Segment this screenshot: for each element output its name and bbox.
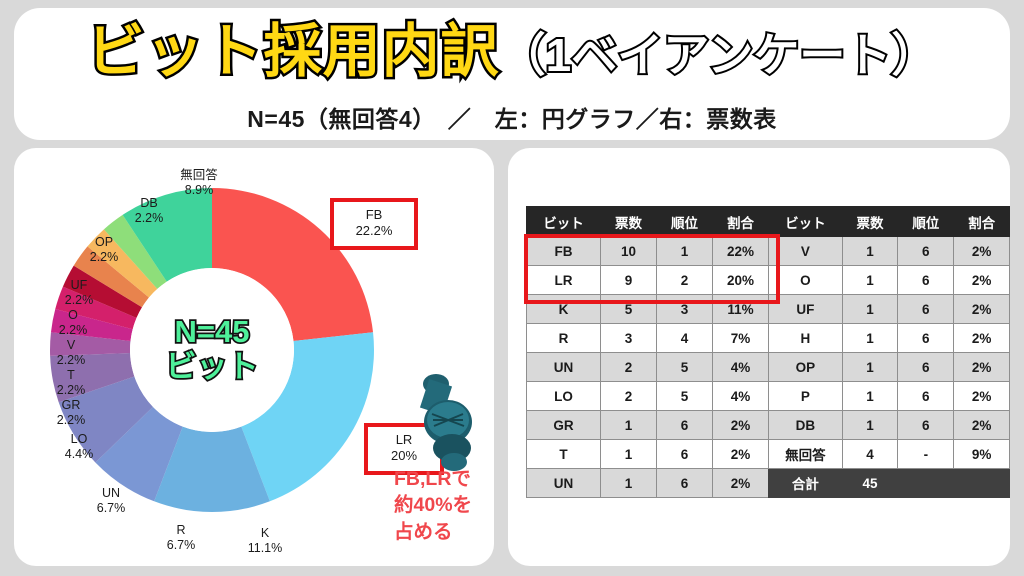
votes-table-left: ビット票数順位割合FB10122%LR9220%K5311%R347%UN254… bbox=[526, 206, 769, 498]
pie-label-lo: LO4.4% bbox=[52, 432, 106, 462]
table-row: LR9220% bbox=[527, 266, 769, 295]
table-cell: UF bbox=[769, 295, 843, 324]
table-cell: 1 bbox=[842, 324, 898, 353]
table-row: FB10122% bbox=[527, 237, 769, 266]
table-row: V162% bbox=[769, 237, 1010, 266]
table-cell: 6 bbox=[657, 469, 713, 498]
table-cell: 2% bbox=[713, 411, 769, 440]
table-cell: 2% bbox=[713, 440, 769, 469]
table-cell: 1 bbox=[842, 382, 898, 411]
table-cell: 6 bbox=[898, 266, 954, 295]
table-cell: 2% bbox=[954, 237, 1010, 266]
page-title: ビット採用内訳（1ベイアンケート） bbox=[14, 22, 1010, 83]
table-cell: 1 bbox=[601, 440, 657, 469]
pie-label-gr: GR2.2% bbox=[44, 398, 98, 428]
table-cell: LR bbox=[527, 266, 601, 295]
table-cell: 2% bbox=[954, 411, 1010, 440]
bit-photo-fb bbox=[406, 370, 488, 480]
table-cell: K bbox=[527, 295, 601, 324]
table-cell: 6 bbox=[898, 353, 954, 382]
table-cell: 4 bbox=[657, 324, 713, 353]
table-cell: UN bbox=[527, 469, 601, 498]
table-row: P162% bbox=[769, 382, 1010, 411]
table-cell: FB bbox=[527, 237, 601, 266]
table-cell: GR bbox=[527, 411, 601, 440]
table-header-row: ビット票数順位割合 bbox=[527, 207, 769, 237]
table-cell: 2% bbox=[954, 382, 1010, 411]
table-cell: 2% bbox=[954, 295, 1010, 324]
table-row: R347% bbox=[527, 324, 769, 353]
pie-label-r: R6.7% bbox=[154, 523, 208, 553]
annotation-note: FB,LRで 約40%を 占める bbox=[394, 466, 472, 545]
table-header-cell: ビット bbox=[769, 207, 843, 237]
table-header-cell: 票数 bbox=[842, 207, 898, 237]
table-row: GR162% bbox=[527, 411, 769, 440]
table-cell: 45 bbox=[842, 469, 898, 498]
table-cell: V bbox=[769, 237, 843, 266]
header-card: ビット採用内訳（1ベイアンケート） N=45（無回答4） ／ 左：円グラフ／右：… bbox=[14, 8, 1010, 140]
table-header-cell: 割合 bbox=[713, 207, 769, 237]
table-cell: T bbox=[527, 440, 601, 469]
table-cell: 1 bbox=[601, 469, 657, 498]
table-cell: 11% bbox=[713, 295, 769, 324]
table-cell bbox=[898, 469, 954, 498]
table-cell: UN bbox=[527, 353, 601, 382]
pie-label-o: O2.2% bbox=[46, 308, 100, 338]
table-cell: 1 bbox=[842, 295, 898, 324]
table-cell: 1 bbox=[657, 237, 713, 266]
table-cell: 9 bbox=[601, 266, 657, 295]
annotation-note-line2: 約40%を bbox=[394, 492, 472, 518]
pie-label-un: UN6.7% bbox=[84, 486, 138, 516]
table-row: OP162% bbox=[769, 353, 1010, 382]
table-row: 無回答4-9% bbox=[769, 440, 1010, 469]
table-cell: LO bbox=[527, 382, 601, 411]
table-cell: 22% bbox=[713, 237, 769, 266]
table-cell: O bbox=[769, 266, 843, 295]
table-cell: 無回答 bbox=[769, 440, 843, 469]
table-cell: 6 bbox=[898, 411, 954, 440]
table-cell: - bbox=[898, 440, 954, 469]
table-cell: 2% bbox=[713, 469, 769, 498]
table-cell: 5 bbox=[601, 295, 657, 324]
pie-label-k: K11.1% bbox=[236, 526, 294, 556]
table-cell: 2 bbox=[657, 266, 713, 295]
table-cell: 2% bbox=[954, 324, 1010, 353]
table-cell: 2 bbox=[601, 382, 657, 411]
votes-table-right: ビット票数順位割合V162%O162%UF162%H162%OP162%P162… bbox=[768, 206, 1010, 498]
table-total-row: 合計45 bbox=[769, 469, 1010, 498]
callout-fb: FB 22.2% bbox=[330, 198, 418, 250]
table-cell: 20% bbox=[713, 266, 769, 295]
pie-label-db: DB2.2% bbox=[122, 196, 176, 226]
table-row: DB162% bbox=[769, 411, 1010, 440]
table-row: LO254% bbox=[527, 382, 769, 411]
table-cell: 6 bbox=[898, 237, 954, 266]
table-cell: 3 bbox=[657, 295, 713, 324]
pie-label-uf: UF2.2% bbox=[52, 278, 106, 308]
table-header-row: ビット票数順位割合 bbox=[769, 207, 1010, 237]
table-row: UN254% bbox=[527, 353, 769, 382]
table-cell: 6 bbox=[657, 440, 713, 469]
table-cell: 6 bbox=[898, 382, 954, 411]
table-row: O162% bbox=[769, 266, 1010, 295]
table-cell: 1 bbox=[842, 411, 898, 440]
pie-label-muikaitou: 無回答8.9% bbox=[166, 168, 232, 198]
table-row: UN162% bbox=[527, 469, 769, 498]
table-row: T162% bbox=[527, 440, 769, 469]
table-cell: R bbox=[527, 324, 601, 353]
table-cell: 1 bbox=[842, 266, 898, 295]
donut-hole bbox=[130, 268, 294, 432]
table-cell: 3 bbox=[601, 324, 657, 353]
table-row: UF162% bbox=[769, 295, 1010, 324]
chart-panel: N=45 ビット 無回答8.9% DB2.2% OP2.2% UF2.2% O2… bbox=[14, 148, 494, 566]
pie-label-v: V2.2% bbox=[44, 338, 98, 368]
table-row: H162% bbox=[769, 324, 1010, 353]
annotation-note-line3: 占める bbox=[394, 519, 472, 545]
table-cell bbox=[954, 469, 1010, 498]
table-cell: 1 bbox=[842, 353, 898, 382]
table-cell: 合計 bbox=[769, 469, 843, 498]
annotation-note-line1: FB,LRで bbox=[394, 466, 472, 492]
table-cell: 2 bbox=[601, 353, 657, 382]
table-header-cell: 割合 bbox=[954, 207, 1010, 237]
table-cell: P bbox=[769, 382, 843, 411]
pie-label-t: T2.2% bbox=[44, 368, 98, 398]
table-cell: 5 bbox=[657, 382, 713, 411]
table-cell: DB bbox=[769, 411, 843, 440]
page-title-paren: （1ベイアンケート） bbox=[500, 29, 938, 81]
table-cell: 6 bbox=[657, 411, 713, 440]
table-cell: 10 bbox=[601, 237, 657, 266]
pie-label-op: OP2.2% bbox=[77, 235, 131, 265]
table-row: K5311% bbox=[527, 295, 769, 324]
page-subtitle: N=45（無回答4） ／ 左：円グラフ／右：票数表 bbox=[14, 100, 1010, 134]
table-cell: 1 bbox=[842, 237, 898, 266]
table-cell: 2% bbox=[954, 266, 1010, 295]
table-cell: 6 bbox=[898, 324, 954, 353]
table-header-cell: 順位 bbox=[898, 207, 954, 237]
table-header-cell: 順位 bbox=[657, 207, 713, 237]
table-header-cell: ビット bbox=[527, 207, 601, 237]
table-cell: 1 bbox=[601, 411, 657, 440]
tables-panel: ビット票数順位割合FB10122%LR9220%K5311%R347%UN254… bbox=[508, 148, 1010, 566]
table-header-cell: 票数 bbox=[601, 207, 657, 237]
table-cell: 4% bbox=[713, 353, 769, 382]
table-cell: 7% bbox=[713, 324, 769, 353]
table-cell: OP bbox=[769, 353, 843, 382]
table-cell: 9% bbox=[954, 440, 1010, 469]
table-cell: 4 bbox=[842, 440, 898, 469]
slide-root: ビット採用内訳（1ベイアンケート） N=45（無回答4） ／ 左：円グラフ／右：… bbox=[0, 0, 1024, 576]
table-cell: 4% bbox=[713, 382, 769, 411]
table-cell: 2% bbox=[954, 353, 1010, 382]
table-cell: 6 bbox=[898, 295, 954, 324]
table-cell: 5 bbox=[657, 353, 713, 382]
page-title-main: ビット採用内訳 bbox=[87, 19, 500, 84]
table-cell: H bbox=[769, 324, 843, 353]
